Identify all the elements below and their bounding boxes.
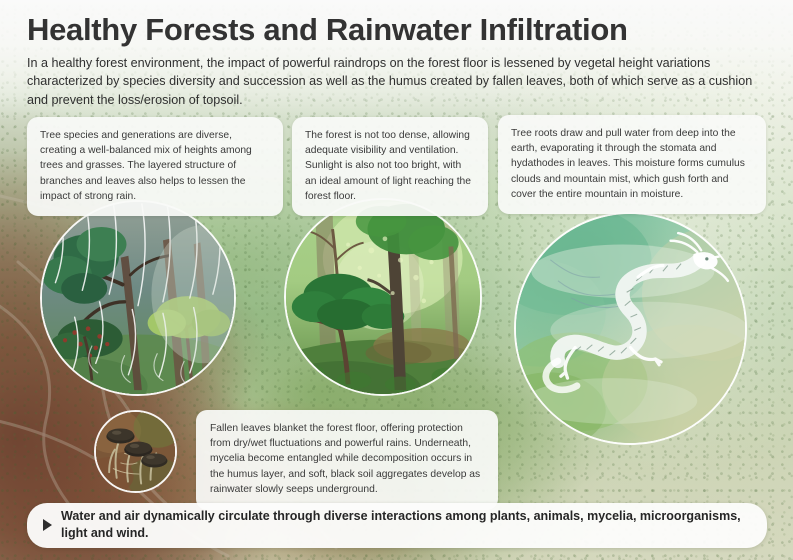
mist-dragon-artwork (516, 214, 745, 443)
page-title: Healthy Forests and Rainwater Infiltrati… (27, 12, 767, 48)
callout-text: Tree roots draw and pull water from deep… (511, 126, 753, 202)
sunlit-forest-artwork (286, 200, 480, 394)
scene-mist-dragon (516, 214, 745, 443)
callout-text: Tree species and generations are diverse… (40, 128, 270, 204)
scene-mushrooms (96, 412, 175, 491)
mushrooms-artwork (96, 412, 175, 491)
callout-text: The forest is not too dense, allowing ad… (305, 128, 475, 204)
summary-bar: Water and air dynamically circulate thro… (27, 503, 767, 548)
play-triangle-icon (43, 519, 52, 531)
callout-roots-evaporation: Tree roots draw and pull water from deep… (498, 115, 766, 214)
callout-text: Fallen leaves blanket the forest floor, … (210, 421, 484, 497)
callout-canopy-layers: Tree species and generations are diverse… (27, 117, 283, 216)
illustration-open-sunlit-forest (284, 198, 482, 396)
rainy-forest-artwork (42, 202, 234, 394)
poster-header: Healthy Forests and Rainwater Infiltrati… (27, 12, 767, 109)
illustration-rainy-layered-forest (40, 200, 236, 396)
illustration-mushrooms-humus-layer (94, 410, 177, 493)
infographic-poster: Healthy Forests and Rainwater Infiltrati… (0, 0, 793, 560)
intro-paragraph: In a healthy forest environment, the imp… (27, 54, 767, 110)
illustration-mist-dragon-mountain (514, 212, 747, 445)
summary-text: Water and air dynamically circulate thro… (61, 508, 751, 542)
scene-sunlit-forest (286, 200, 480, 394)
callout-forest-density-light: The forest is not too dense, allowing ad… (292, 117, 488, 216)
callout-leaf-litter-humus: Fallen leaves blanket the forest floor, … (196, 410, 498, 510)
scene-rainy-forest (42, 202, 234, 394)
